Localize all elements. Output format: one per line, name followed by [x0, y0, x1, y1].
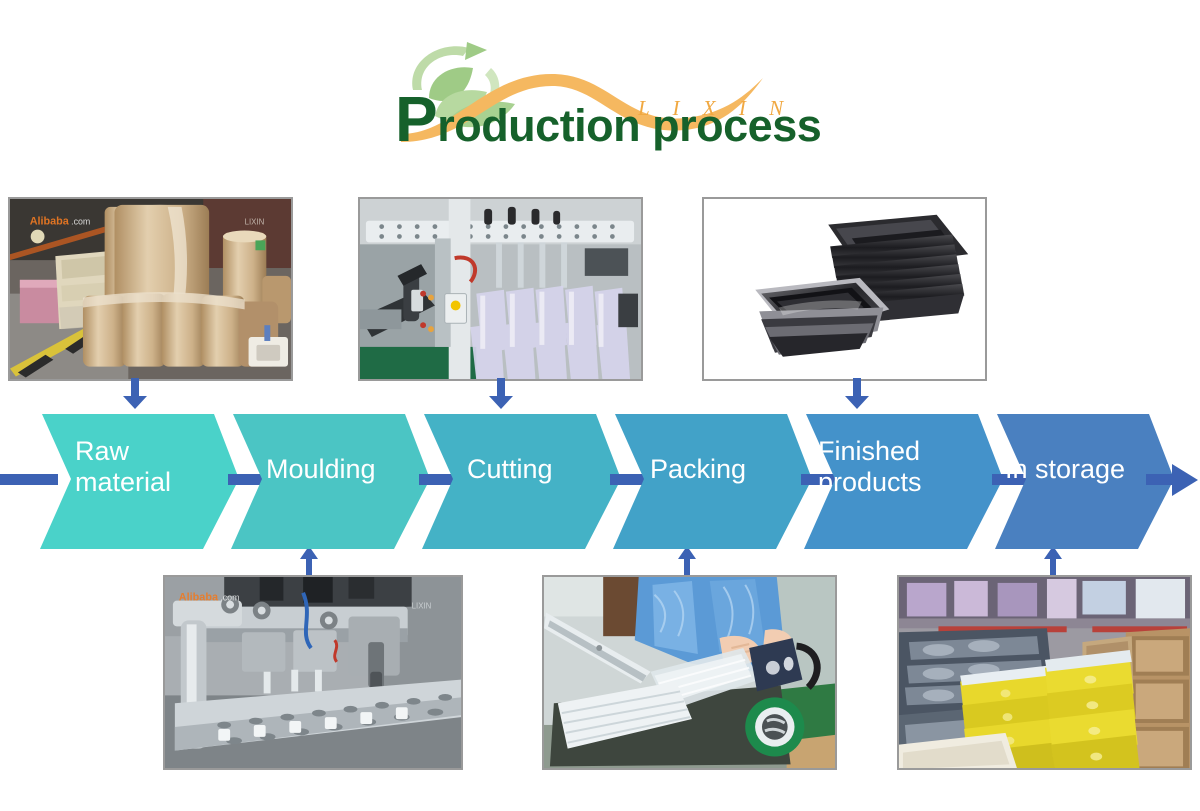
- svg-text:LIXIN: LIXIN: [412, 602, 432, 611]
- svg-text:Alibaba: Alibaba: [179, 592, 219, 604]
- cutting-photo[interactable]: Alibaba .com LIXIN: [163, 575, 463, 770]
- svg-text:.com: .com: [220, 593, 239, 603]
- svg-text:LIXIN: LIXIN: [245, 218, 265, 227]
- raw-material-photo[interactable]: Alibaba .com LIXIN: [8, 197, 293, 381]
- in-storage-photo[interactable]: [897, 575, 1192, 770]
- title-block: L I X I N Production process: [395, 38, 815, 143]
- svg-text:Alibaba: Alibaba: [30, 216, 70, 228]
- moulding-photo[interactable]: [358, 197, 643, 381]
- page-title: Production process: [395, 100, 815, 152]
- process-flow: Raw material Moulding Cutting Packing Fi…: [0, 404, 1200, 564]
- finished-products-photo[interactable]: [702, 197, 987, 381]
- slide-canvas: L I X I N Production process: [0, 0, 1200, 811]
- title-rest: roduction process: [437, 100, 821, 151]
- svg-text:.com: .com: [71, 217, 90, 227]
- chevron-raw-material[interactable]: [40, 414, 239, 549]
- title-initial: P: [395, 83, 437, 155]
- entry-connector: [0, 474, 58, 485]
- packing-photo[interactable]: [542, 575, 837, 770]
